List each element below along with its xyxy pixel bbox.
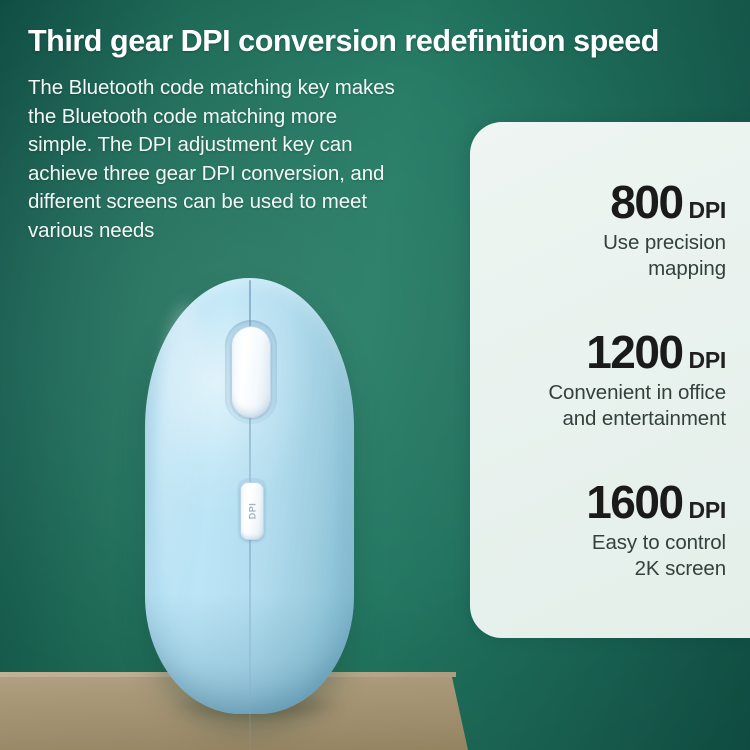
dpi-description: Convenient in office and entertainment	[494, 380, 726, 432]
mouse-highlight	[155, 304, 217, 634]
dpi-spec-item: 1200 DPI Convenient in office and entert…	[494, 328, 726, 432]
dpi-value-row: 1200 DPI	[494, 328, 726, 376]
dpi-button: DPI	[240, 482, 264, 540]
dpi-description: Easy to control 2K screen	[494, 530, 726, 582]
dpi-description-line: and entertainment	[494, 406, 726, 432]
dpi-value: 1200	[586, 328, 682, 376]
scroll-wheel	[231, 326, 271, 418]
body-line: different screens can be used to meet	[28, 188, 453, 217]
dpi-value: 1600	[586, 478, 682, 526]
dpi-spec-card: 800 DPI Use precision mapping 1200 DPI C…	[470, 122, 750, 638]
dpi-description-line: Easy to control	[494, 530, 726, 556]
dpi-description-line: Use precision	[494, 230, 726, 256]
dpi-unit: DPI	[689, 347, 726, 374]
wireless-mouse-image: DPI	[145, 278, 354, 714]
product-banner: Third gear DPI conversion redefinition s…	[0, 0, 750, 750]
dpi-description-line: Convenient in office	[494, 380, 726, 406]
dpi-spec-item: 800 DPI Use precision mapping	[494, 178, 726, 282]
body-line: the Bluetooth code matching more	[28, 103, 453, 132]
body-line: achieve three gear DPI conversion, and	[28, 160, 453, 189]
body-description: The Bluetooth code matching key makes th…	[28, 74, 453, 246]
dpi-value: 800	[610, 178, 682, 226]
dpi-description-line: mapping	[494, 256, 726, 282]
dpi-unit: DPI	[689, 197, 726, 224]
body-line: The Bluetooth code matching key makes	[28, 74, 453, 103]
body-line: simple. The DPI adjustment key can	[28, 131, 453, 160]
dpi-description: Use precision mapping	[494, 230, 726, 282]
dpi-spec-item: 1600 DPI Easy to control 2K screen	[494, 478, 726, 582]
dpi-value-row: 1600 DPI	[494, 478, 726, 526]
dpi-unit: DPI	[689, 497, 726, 524]
dpi-value-row: 800 DPI	[494, 178, 726, 226]
body-line: various needs	[28, 217, 453, 246]
page-title: Third gear DPI conversion redefinition s…	[28, 24, 728, 59]
dpi-button-label: DPI	[247, 503, 257, 520]
dpi-description-line: 2K screen	[494, 556, 726, 582]
